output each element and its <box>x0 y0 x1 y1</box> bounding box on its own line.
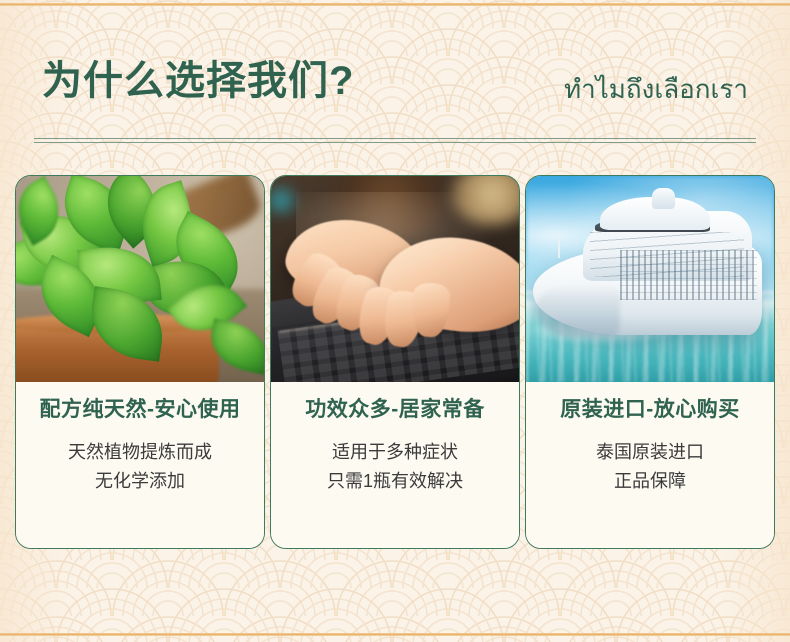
card-description: 天然植物提炼而成 无化学添加 <box>24 438 256 496</box>
card-description-line-2: 只需1瓶有效解决 <box>279 467 511 496</box>
page-title-chinese: 为什么选择我们? <box>42 55 354 107</box>
ship-mast-shape <box>558 234 560 259</box>
header-divider <box>34 138 756 143</box>
promo-banner: 为什么选择我们? ทำไมถึงเลือกเรา <box>0 0 790 642</box>
divider-line-upper <box>34 138 756 139</box>
card-title: 功效众多-居家常备 <box>279 396 511 424</box>
top-gold-rule <box>0 3 790 6</box>
feature-card-natural-formula[interactable]: 配方纯天然-安心使用 天然植物提炼而成 无化学添加 <box>15 175 265 549</box>
feature-card-list: 配方纯天然-安心使用 天然植物提炼而成 无化学添加 <box>15 175 775 549</box>
mint-photo-canvas <box>16 176 264 382</box>
card-title: 配方纯天然-安心使用 <box>24 396 256 424</box>
ship-hull-shadow <box>536 283 620 337</box>
section-header: 为什么选择我们? ทำไมถึงเลือกเรา <box>0 55 790 145</box>
background-bokeh-shape <box>450 176 519 225</box>
bottom-gold-rule <box>0 633 790 636</box>
divider-line-lower <box>34 142 756 143</box>
card-description-line-2: 无化学添加 <box>24 467 256 496</box>
feature-card-many-benefits[interactable]: 功效众多-居家常备 适用于多种症状 只需1瓶有效解决 <box>270 175 520 549</box>
card-description-line-1: 适用于多种症状 <box>332 442 458 462</box>
card-description-line-1: 泰国原装进口 <box>596 442 704 462</box>
card-description: 适用于多种症状 只需1瓶有效解决 <box>279 438 511 496</box>
cruise-ship-photo <box>526 176 774 382</box>
ship-photo-canvas <box>526 176 774 382</box>
feature-card-authentic-import[interactable]: 原装进口-放心购买 泰国原装进口 正品保障 <box>525 175 775 549</box>
ship-cabin-windows <box>620 250 756 299</box>
ship-funnel-shape <box>652 188 674 209</box>
card-description-line-2: 正品保障 <box>534 467 766 496</box>
card-description-line-1: 天然植物提炼而成 <box>68 442 212 462</box>
hands-typing-laptop-photo <box>271 176 519 382</box>
page-title-thai: ทำไมถึงเลือกเรา <box>564 73 748 107</box>
card-description: 泰国原装进口 正品保障 <box>534 438 766 496</box>
background-bokeh-shape <box>271 184 303 217</box>
keyboard-photo-canvas <box>271 176 519 382</box>
card-text-block: 配方纯天然-安心使用 天然植物提炼而成 无化学添加 <box>16 382 264 548</box>
card-text-block: 原装进口-放心购买 泰国原装进口 正品保障 <box>526 382 774 548</box>
card-title: 原装进口-放心购买 <box>534 396 766 424</box>
card-text-block: 功效众多-居家常备 适用于多种症状 只需1瓶有效解决 <box>271 382 519 548</box>
mint-plant-photo <box>16 176 264 382</box>
